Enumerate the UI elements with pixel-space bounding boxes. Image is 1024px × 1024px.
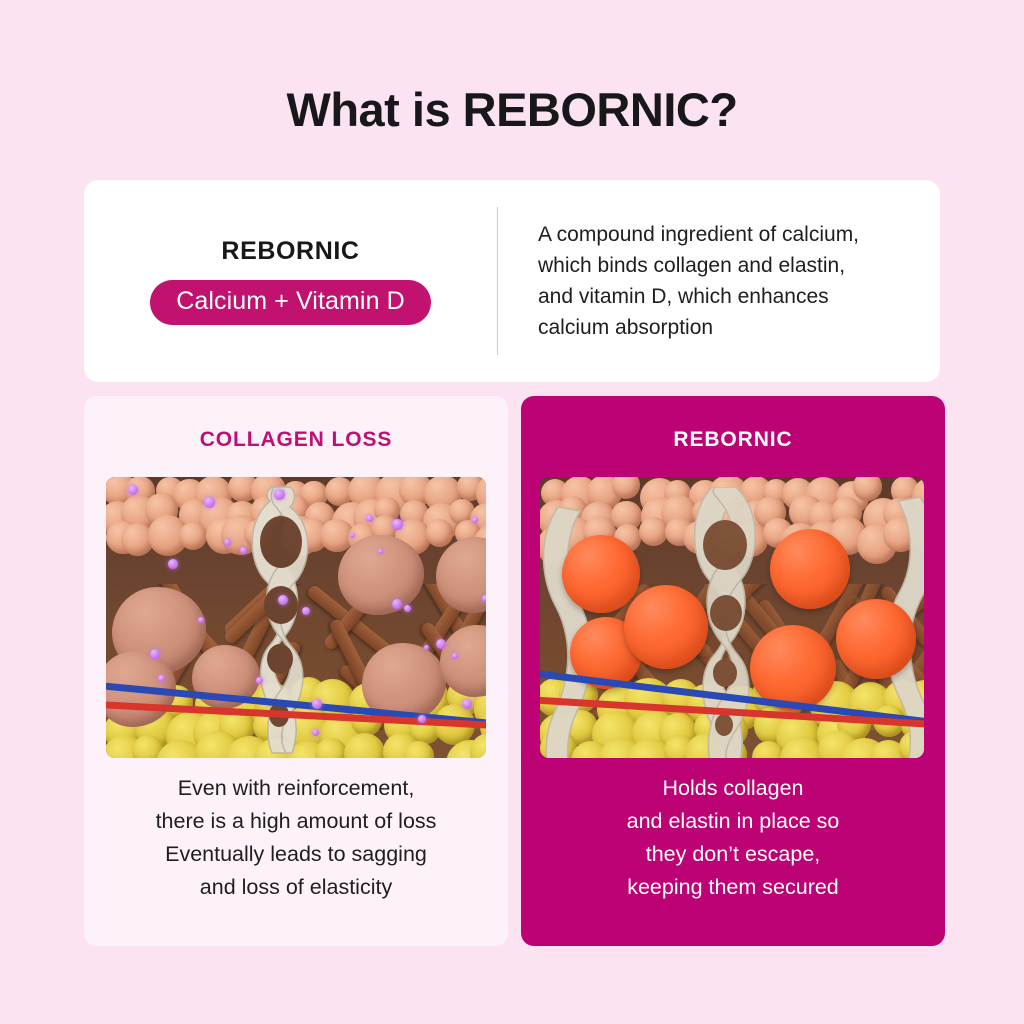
collagen-particle [482, 595, 486, 602]
skin-cross-section-rebornic-illustration [540, 477, 924, 758]
collagen-particle [392, 519, 403, 530]
secured-collagen-sphere [624, 585, 708, 669]
brand-pill-badge: Calcium + Vitamin D [150, 280, 431, 325]
brand-column: REBORNIC Calcium + Vitamin D [84, 237, 497, 325]
collagen-particle [462, 699, 472, 709]
collagen-particle [452, 653, 458, 659]
infographic-page: What is REBORNIC? REBORNIC Calcium + Vit… [0, 0, 1024, 1024]
panel-collagen-loss: COLLAGEN LOSS Even with reinfo [84, 396, 508, 946]
panel-right-caption: Holds collagen and elastin in place so t… [521, 772, 945, 904]
collagen-particle [224, 539, 231, 546]
collagen-particle [418, 715, 426, 723]
collagen-particle [312, 699, 322, 709]
brand-name: REBORNIC [221, 237, 359, 266]
skin-cross-section-collagen-loss-illustration [106, 477, 486, 758]
info-card: REBORNIC Calcium + Vitamin D A compound … [84, 180, 940, 382]
secured-collagen-sphere [562, 535, 640, 613]
panel-right-heading: REBORNIC [521, 396, 945, 452]
collagen-particle [128, 485, 138, 495]
collagen-particle [168, 559, 178, 569]
panel-left-caption: Even with reinforcement, there is a high… [84, 772, 508, 904]
epidermis-cell [426, 519, 454, 547]
secured-collagen-sphere [770, 529, 850, 609]
panel-left-heading: COLLAGEN LOSS [84, 396, 508, 452]
description-text: A compound ingredient of calcium, which … [538, 219, 912, 343]
secured-collagen-sphere [836, 599, 916, 679]
collagen-particle [278, 595, 288, 605]
collagen-particle [274, 489, 285, 500]
collagen-particle [204, 497, 215, 508]
fat-globule [470, 733, 486, 758]
epidermis-cell [179, 522, 207, 550]
page-title: What is REBORNIC? [0, 82, 1024, 137]
fat-globule [344, 733, 385, 758]
description-column: A compound ingredient of calcium, which … [498, 219, 940, 343]
epidermis-cell [853, 477, 882, 501]
collagen-particle [404, 605, 411, 612]
collagen-particle [256, 677, 263, 684]
collagen-particle [366, 515, 373, 522]
epidermis-cell [639, 517, 668, 546]
fat-globule [404, 741, 435, 758]
panel-rebornic: REBORNIC [521, 396, 945, 946]
